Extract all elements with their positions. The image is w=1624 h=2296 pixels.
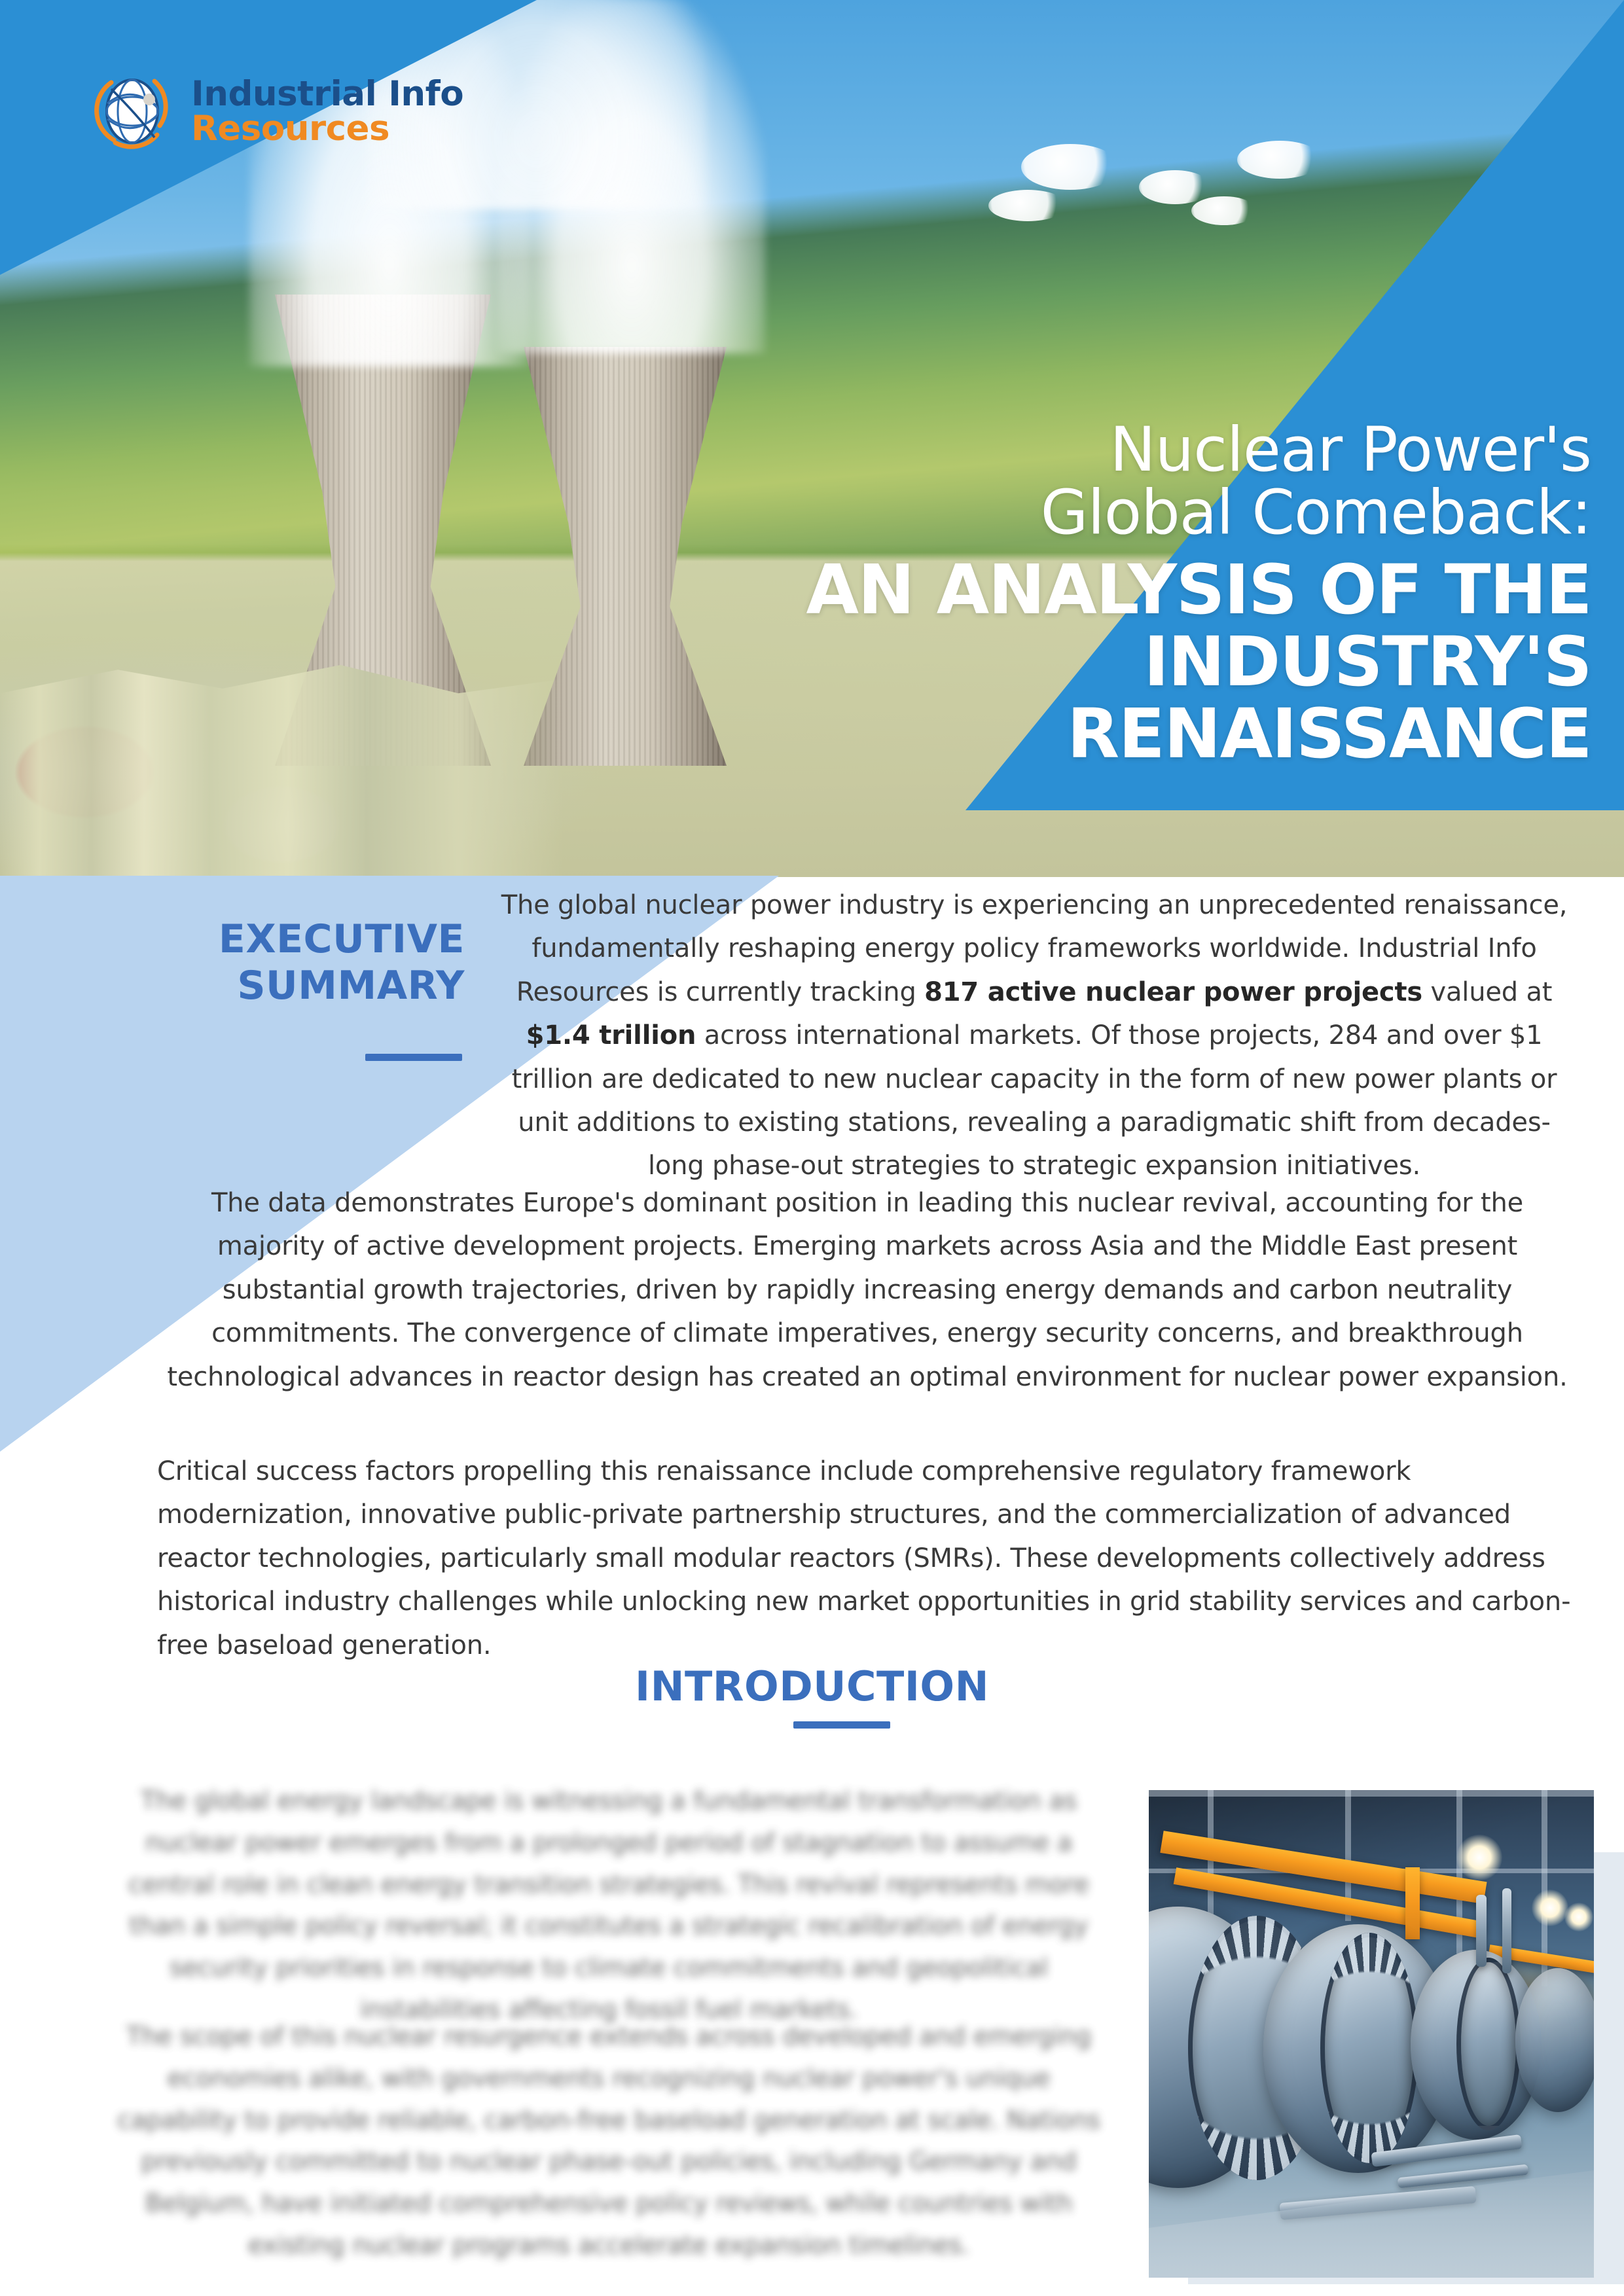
executive-summary-paragraph-1: The global nuclear power industry is exp… <box>497 884 1571 1188</box>
introduction-photo-turbine-hall <box>1149 1790 1594 2278</box>
ceiling-light <box>1532 1890 1568 1926</box>
cloud-icon <box>988 190 1067 221</box>
executive-summary-paragraph-2: The data demonstrates Europe's dominant … <box>164 1181 1571 1399</box>
title-line-3: AN ANALYSIS OF THE <box>642 554 1591 626</box>
cloud-icon <box>1139 170 1211 204</box>
hero-banner: Industrial Info Resources Nuclear Power'… <box>0 0 1624 877</box>
introduction-underline <box>793 1721 890 1729</box>
process-pipe <box>1476 1895 1487 1967</box>
executive-summary-heading-line1: EXECUTIVE <box>98 916 465 963</box>
structure-beam <box>1149 1790 1594 1797</box>
turbine-casing-distant <box>1515 1968 1594 2112</box>
globe-swoosh-logo-icon <box>92 69 175 153</box>
brand-logo[interactable]: Industrial Info Resources <box>92 62 511 160</box>
logo-text-line2: Resources <box>191 111 463 146</box>
page-title: Nuclear Power's Global Comeback: AN ANAL… <box>642 419 1591 770</box>
executive-summary-heading: EXECUTIVE SUMMARY <box>98 916 465 1009</box>
introduction-paragraph-2: The scope of this nuclear resurgence ext… <box>111 2016 1106 2267</box>
logo-text-line1: Industrial Info <box>191 77 463 111</box>
es-p1-mid: valued at <box>1422 977 1552 1007</box>
turbine-bolt-ring <box>1320 1933 1418 2163</box>
title-line-4: INDUSTRY'S RENAISSANCE <box>642 626 1591 770</box>
process-pipe <box>1502 1888 1511 1973</box>
executive-summary-paragraph-3: Critical success factors propelling this… <box>157 1450 1584 1667</box>
cloud-icon <box>1237 141 1322 179</box>
ceiling-light <box>1564 1903 1593 1931</box>
cloud-icon <box>1021 144 1119 190</box>
ceiling-light <box>1456 1835 1502 1880</box>
es-p1-bold-2: $1.4 trillion <box>526 1020 696 1050</box>
title-line-2: Global Comeback: <box>642 482 1591 545</box>
cloud-icon <box>1191 196 1257 225</box>
es-p1-bold-1: 817 active nuclear power projects <box>924 977 1422 1007</box>
executive-summary-heading-line2: SUMMARY <box>98 963 465 1009</box>
turbine-flange <box>1456 1958 1521 2130</box>
title-line-1: Nuclear Power's <box>642 419 1591 482</box>
executive-summary-underline <box>365 1054 462 1061</box>
overhead-crane-support <box>1405 1867 1420 1939</box>
introduction-heading: INTRODUCTION <box>0 1662 1624 1710</box>
introduction-paragraph-1: The global energy landscape is witnessin… <box>111 1780 1106 2031</box>
